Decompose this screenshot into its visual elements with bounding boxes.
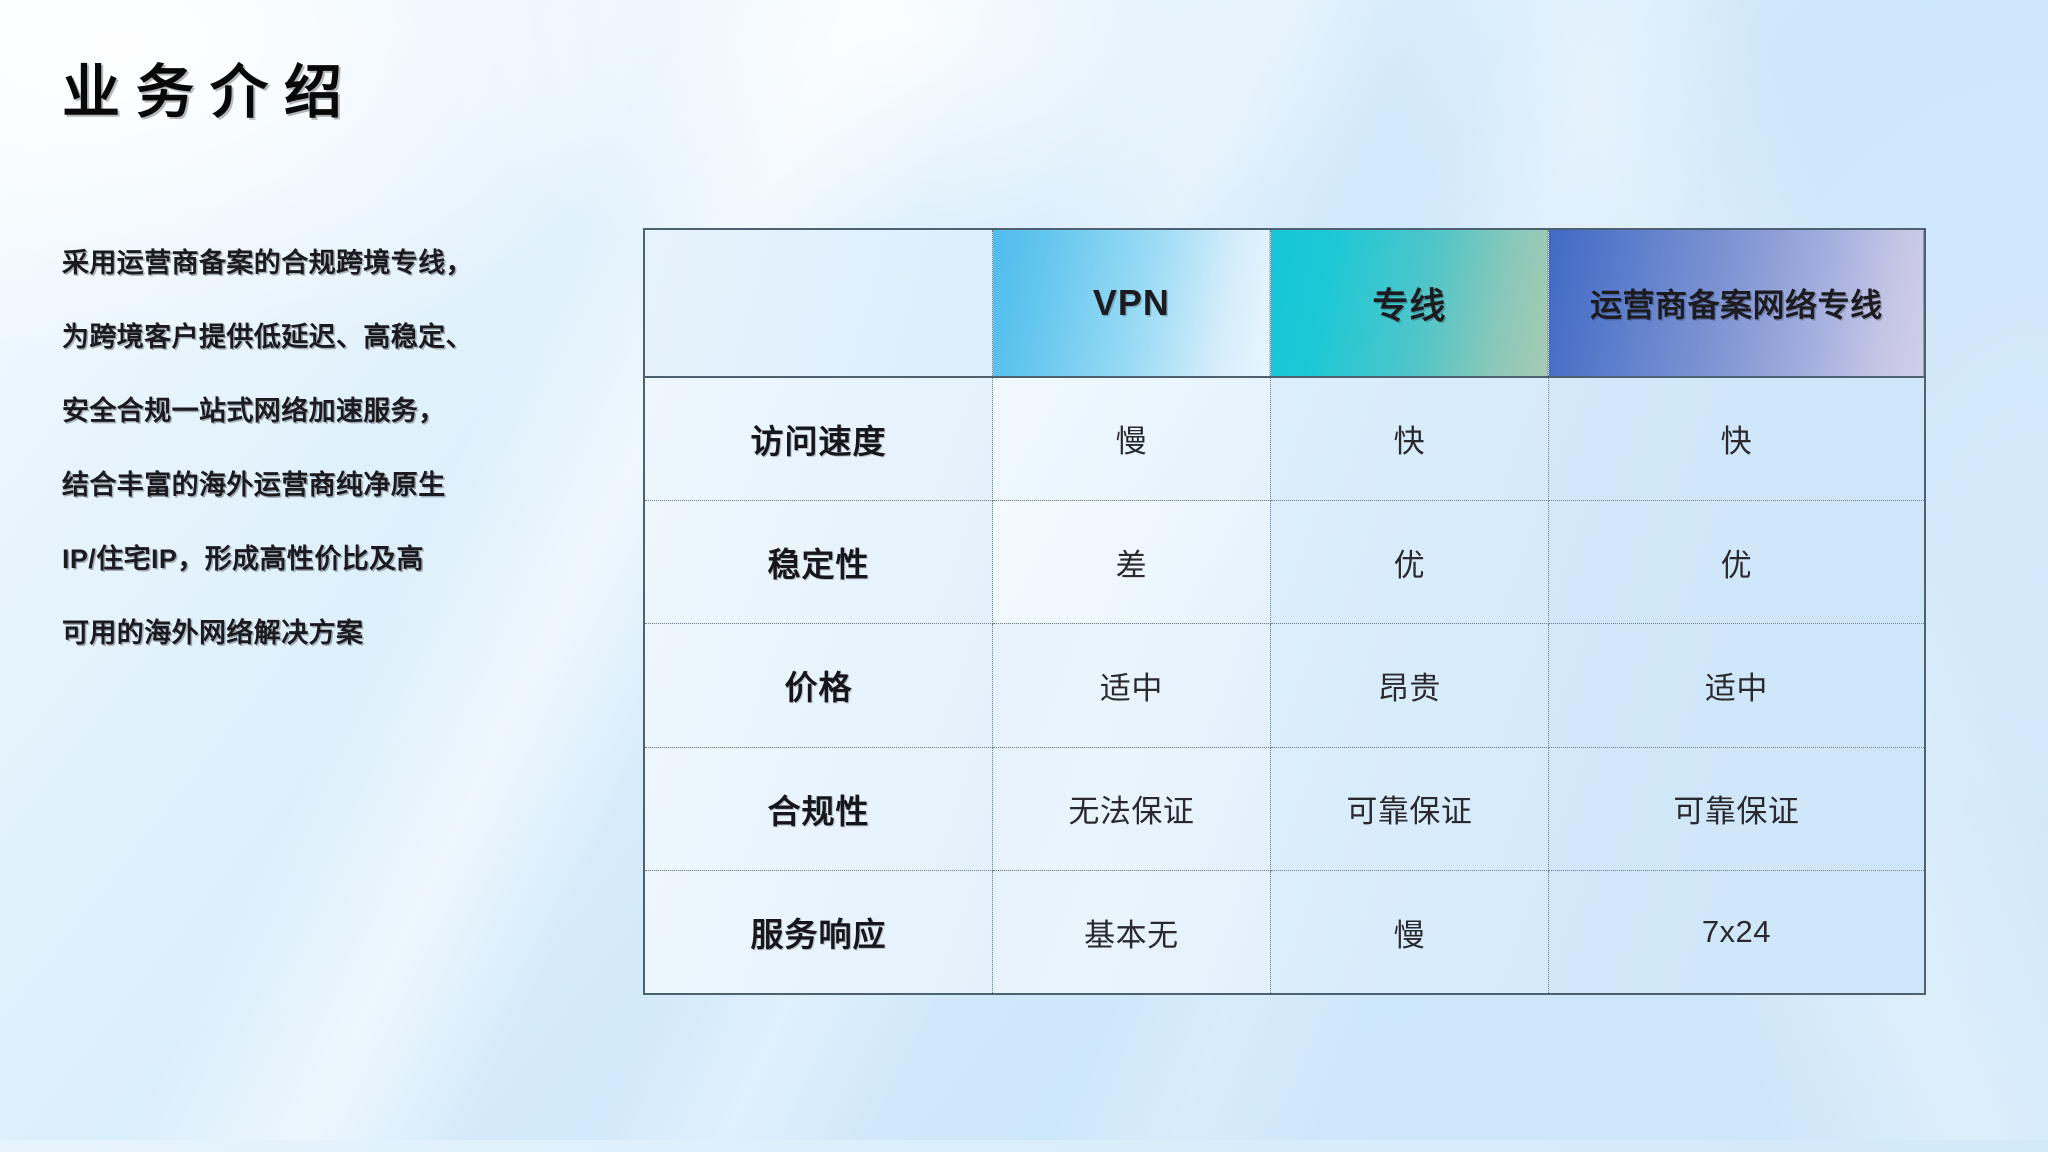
table-header-blank	[644, 229, 992, 377]
intro-line: 结合丰富的海外运营商纯净原生	[62, 448, 622, 522]
table-header-filed-line-label: 运营商备案网络专线	[1549, 280, 1924, 326]
table-header-dedicated-line-label: 专线	[1271, 277, 1548, 329]
row-label-service-response: 服务响应	[644, 871, 992, 994]
intro-line: 为跨境客户提供低延迟、高稳定、	[62, 300, 622, 374]
table-header-filed-line: 运营商备案网络专线	[1548, 229, 1925, 377]
cell-compliance-vpn: 无法保证	[992, 747, 1270, 870]
table-header: VPN 专线 运营商备案网络专线	[644, 229, 1925, 377]
cell-compliance-filed: 可靠保证	[1548, 747, 1925, 870]
table-row: 价格 适中 昂贵 适中	[644, 624, 1925, 747]
cell-service-response-line: 慢	[1270, 871, 1548, 994]
cell-price-vpn: 适中	[992, 624, 1270, 747]
row-label-stability: 稳定性	[644, 500, 992, 623]
table-header-row: VPN 专线 运营商备案网络专线	[644, 229, 1925, 377]
table-row: 合规性 无法保证 可靠保证 可靠保证	[644, 747, 1925, 870]
comparison-table-container: VPN 专线 运营商备案网络专线 访问速度 慢 快 快 稳定性 差 优	[643, 228, 1926, 993]
intro-line: 可用的海外网络解决方案	[62, 596, 622, 670]
cell-stability-line: 优	[1270, 500, 1548, 623]
table-header-vpn: VPN	[992, 229, 1270, 377]
cell-price-filed: 适中	[1548, 624, 1925, 747]
intro-line: 采用运营商备案的合规跨境专线，	[62, 226, 622, 300]
intro-paragraph: 采用运营商备案的合规跨境专线， 为跨境客户提供低延迟、高稳定、 安全合规一站式网…	[62, 226, 622, 670]
cell-service-response-filed: 7x24	[1548, 871, 1925, 994]
cell-stability-filed: 优	[1548, 500, 1925, 623]
row-label-compliance: 合规性	[644, 747, 992, 870]
slide-bottom-bar	[0, 1140, 2048, 1152]
table-row: 稳定性 差 优 优	[644, 500, 1925, 623]
row-label-access-speed: 访问速度	[644, 377, 992, 500]
row-label-price: 价格	[644, 624, 992, 747]
table-header-dedicated-line: 专线	[1270, 229, 1548, 377]
comparison-table: VPN 专线 运营商备案网络专线 访问速度 慢 快 快 稳定性 差 优	[643, 228, 1926, 995]
cell-access-speed-filed: 快	[1548, 377, 1925, 500]
cell-access-speed-line: 快	[1270, 377, 1548, 500]
cell-price-line: 昂贵	[1270, 624, 1548, 747]
cell-service-response-vpn: 基本无	[992, 871, 1270, 994]
cell-access-speed-vpn: 慢	[992, 377, 1270, 500]
cell-compliance-line: 可靠保证	[1270, 747, 1548, 870]
table-body: 访问速度 慢 快 快 稳定性 差 优 优 价格 适中 昂贵 适中 合规性 无法保…	[644, 377, 1925, 994]
page-title: 业务介绍	[62, 62, 358, 125]
intro-line: 安全合规一站式网络加速服务，	[62, 374, 622, 448]
intro-line: IP/住宅IP，形成高性价比及高	[62, 522, 622, 596]
table-header-vpn-label: VPN	[993, 282, 1270, 324]
table-row: 访问速度 慢 快 快	[644, 377, 1925, 500]
table-row: 服务响应 基本无 慢 7x24	[644, 871, 1925, 994]
cell-stability-vpn: 差	[992, 500, 1270, 623]
